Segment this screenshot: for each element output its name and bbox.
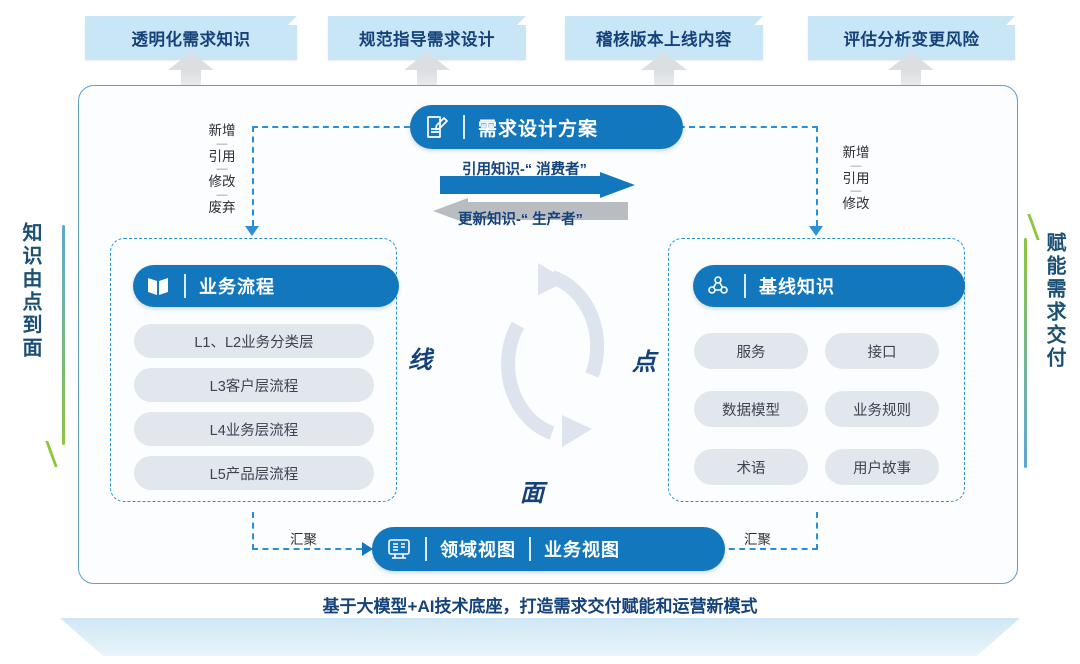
view-pill-divider-2: [529, 537, 531, 561]
view-pill-divider-1: [425, 537, 427, 561]
aggregate-left-label: 汇聚: [290, 528, 317, 548]
right-op-0: 新增: [832, 145, 880, 161]
cycle-label-right: 点: [632, 342, 656, 377]
right-item-5[interactable]: 用户故事: [825, 449, 939, 485]
top-banner-2-label: 规范指导需求设计: [359, 26, 495, 50]
design-pill-title: 需求设计方案: [478, 114, 598, 141]
right-item-0-label: 服务: [737, 341, 766, 362]
left-item-3-label: L5产品层流程: [210, 463, 299, 484]
left-item-2-label: L4业务层流程: [210, 419, 299, 440]
connector-right-vertical: [816, 126, 818, 226]
right-op-divider-1: —: [832, 186, 880, 196]
cycle-label-left: 线: [408, 340, 432, 375]
left-item-0[interactable]: L1、L2业务分类层: [134, 324, 374, 358]
left-item-3[interactable]: L5产品层流程: [134, 456, 374, 490]
caption-highlight: 大模型+AI: [357, 597, 435, 616]
top-banner-4-label: 评估分析变更风险: [844, 26, 980, 50]
open-book-icon: [145, 273, 171, 299]
design-pill[interactable]: 需求设计方案: [410, 105, 683, 149]
caption-suffix: 技术底座，打造需求交付赋能和运营新模式: [434, 597, 757, 616]
right-bracket: [1024, 238, 1027, 468]
left-header-divider: [184, 274, 186, 298]
pill-divider: [463, 115, 465, 139]
right-item-4[interactable]: 术语: [694, 449, 808, 485]
left-op-1: 引用: [198, 149, 246, 165]
left-op-2: 修改: [198, 174, 246, 190]
left-side-caption: 知识由点到面: [16, 222, 45, 452]
right-item-2-label: 数据模型: [722, 399, 780, 420]
right-item-5-label: 用户故事: [853, 457, 911, 478]
aggregate-right-vertical: [816, 512, 818, 550]
connector-left-vertical: [252, 126, 254, 226]
right-header-divider: [744, 274, 746, 298]
business-process-title: 业务流程: [199, 273, 275, 299]
connector-left-top-horizontal: [252, 126, 420, 128]
circular-arrows-icon: [500, 255, 610, 455]
caption-prefix: 基于: [323, 597, 357, 616]
cycle-label-bottom: 面: [520, 473, 544, 508]
right-item-0[interactable]: 服务: [694, 333, 808, 369]
left-item-1[interactable]: L3客户层流程: [134, 368, 374, 402]
left-op-divider-0: —: [198, 139, 246, 149]
left-item-1-label: L3客户层流程: [210, 375, 299, 396]
right-side-caption: 赋能需求交付: [1040, 232, 1069, 462]
baseline-knowledge-title: 基线知识: [759, 273, 835, 299]
right-op-1: 引用: [832, 171, 880, 187]
connector-left-arrowhead: [245, 226, 259, 236]
view-board-icon: [386, 536, 412, 562]
bottom-caption: 基于大模型+AI技术底座，打造需求交付赋能和运营新模式: [0, 592, 1080, 617]
right-op-divider-0: —: [832, 161, 880, 171]
left-op-divider-2: —: [198, 190, 246, 200]
left-bracket: [62, 225, 65, 445]
right-item-1-label: 接口: [868, 341, 897, 362]
left-op-3: 废弃: [198, 200, 246, 216]
right-item-1[interactable]: 接口: [825, 333, 939, 369]
producer-flow-label: 更新知识-“ 生产者”: [458, 208, 583, 229]
left-operations-stack: 新增 — 引用 — 修改 — 废弃: [198, 123, 246, 215]
right-item-4-label: 术语: [737, 457, 766, 478]
consumer-flow-label: 引用知识-“ 消费者”: [462, 158, 587, 179]
left-item-0-label: L1、L2业务分类层: [194, 331, 313, 352]
document-edit-icon: [424, 114, 450, 140]
right-item-3-label: 业务规则: [853, 399, 911, 420]
business-process-header[interactable]: 业务流程: [133, 265, 399, 307]
top-banner-3-label: 稽核版本上线内容: [596, 26, 732, 50]
view-pill-title-2: 业务视图: [544, 536, 620, 562]
connector-right-arrowhead: [809, 226, 823, 236]
top-banner-1-label: 透明化需求知识: [132, 26, 251, 50]
diagram-canvas: 透明化需求知识 规范指导需求设计 稽核版本上线内容 评估分析变更风险 需求设计方…: [0, 0, 1080, 664]
right-item-3[interactable]: 业务规则: [825, 391, 939, 427]
right-operations-stack: 新增 — 引用 — 修改: [832, 145, 880, 212]
baseline-knowledge-header[interactable]: 基线知识: [693, 265, 965, 307]
right-op-2: 修改: [832, 196, 880, 212]
bottom-trapezoid: [60, 618, 1020, 656]
view-pill-title-1: 领域视图: [440, 536, 516, 562]
left-op-divider-1: —: [198, 164, 246, 174]
left-op-0: 新增: [198, 123, 246, 139]
right-item-2[interactable]: 数据模型: [694, 391, 808, 427]
aggregate-left-vertical: [252, 512, 254, 550]
aggregate-right-label: 汇聚: [744, 528, 771, 548]
view-pill[interactable]: 领域视图 业务视图: [372, 527, 725, 571]
left-item-2[interactable]: L4业务层流程: [134, 412, 374, 446]
knowledge-node-icon: [705, 273, 731, 299]
aggregate-left-horizontal: [252, 548, 362, 550]
